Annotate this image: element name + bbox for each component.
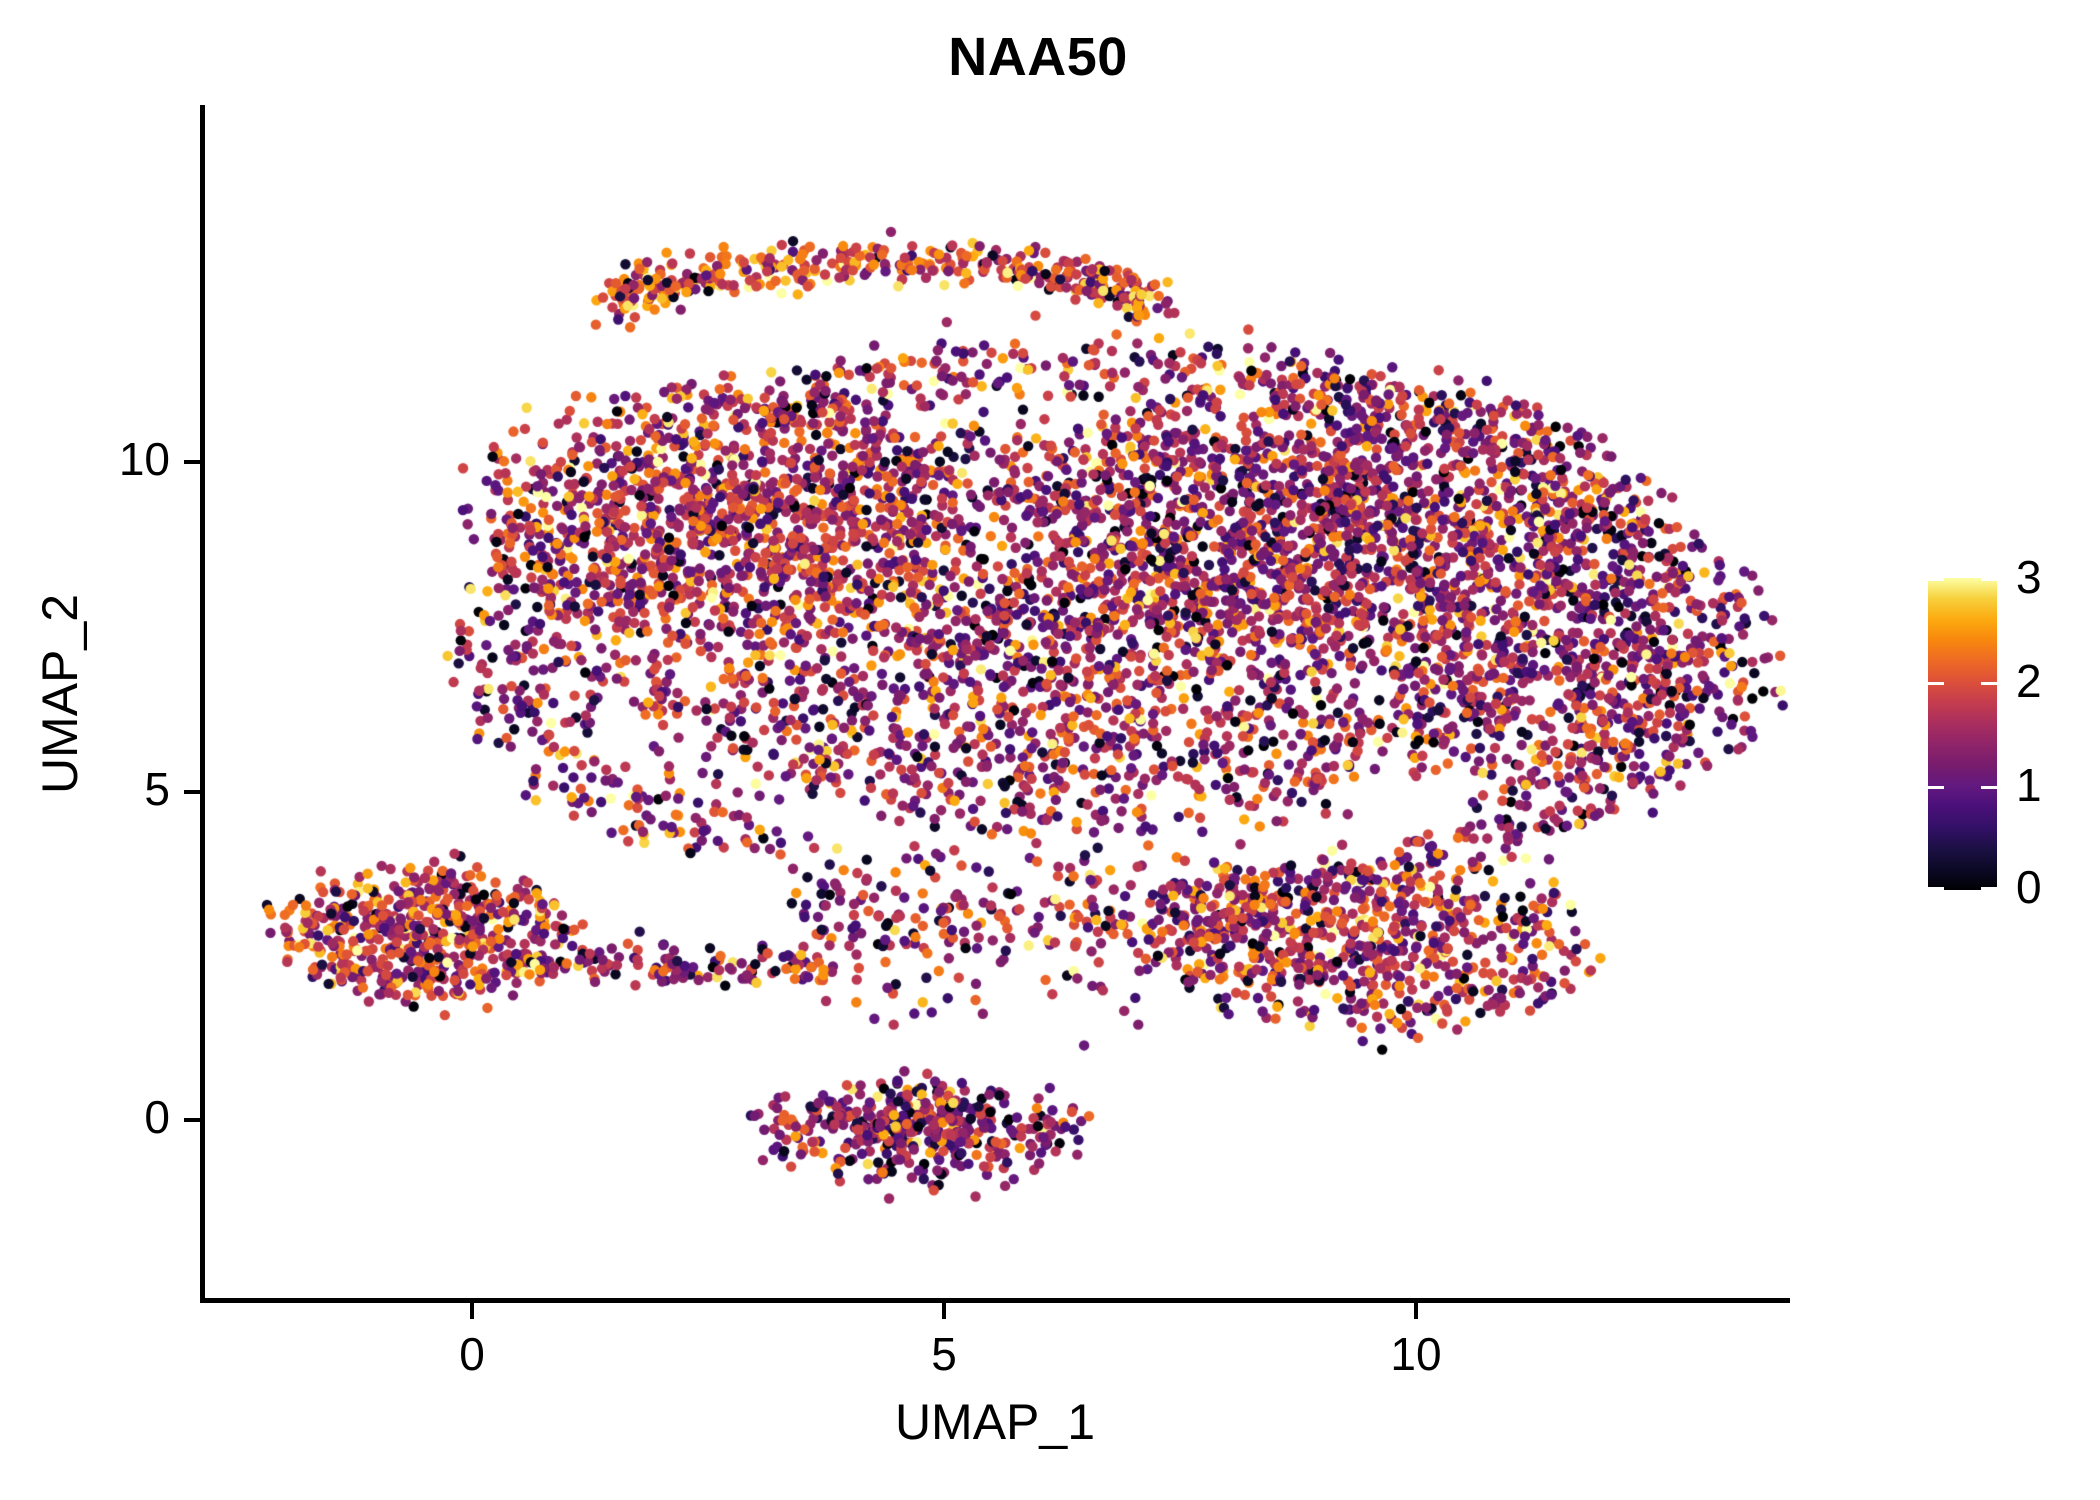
colorbar-gradient	[1928, 578, 1997, 890]
y-tick-mark-0	[184, 1118, 200, 1122]
page-title: NAA50	[0, 26, 2076, 88]
y-tick-mark-5	[184, 790, 200, 794]
legend-tick-1	[1928, 786, 1997, 789]
legend-tick-2	[1928, 682, 1997, 685]
legend-label-2: 2	[2016, 654, 2100, 708]
legend-tick-3	[1928, 578, 1997, 581]
legend-tick-0	[1928, 887, 1997, 890]
x-tick-label-0: 0	[412, 1327, 532, 1381]
y-tick-mark-10	[184, 460, 200, 464]
x-tick-mark-10	[1414, 1303, 1418, 1319]
scatter-canvas	[205, 105, 1790, 1300]
y-tick-label-0: 0	[20, 1090, 170, 1144]
x-tick-mark-0	[470, 1303, 474, 1319]
legend-label-0: 0	[2016, 860, 2100, 914]
plot-panel	[205, 105, 1790, 1300]
x-tick-label-5: 5	[884, 1327, 1004, 1381]
umap-feature-plot: NAA50 0 5 10 10 5 0 UMAP_1 UMAP_2 3 2 1 …	[0, 0, 2100, 1500]
x-axis-line	[200, 1298, 1790, 1303]
x-tick-label-10: 10	[1356, 1327, 1476, 1381]
x-tick-mark-5	[942, 1303, 946, 1319]
y-axis-label: UMAP_2	[31, 444, 89, 944]
x-axis-label: UMAP_1	[200, 1393, 1790, 1451]
legend-label-1: 1	[2016, 758, 2100, 812]
legend-label-3: 3	[2016, 550, 2100, 604]
color-legend: 3 2 1 0	[1928, 578, 2088, 890]
y-axis-line	[200, 105, 205, 1303]
